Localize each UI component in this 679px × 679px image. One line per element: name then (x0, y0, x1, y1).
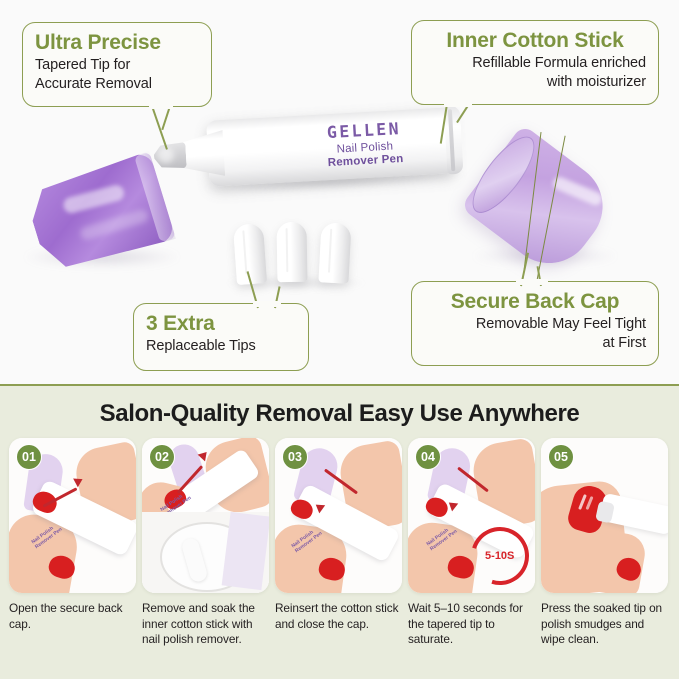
step-caption: Open the secure back cap. (9, 601, 136, 648)
step-number-badge: 02 (149, 444, 175, 470)
callout-tail-mask (516, 279, 548, 285)
how-to-use-panel: Salon-Quality Removal Easy Use Anywhere … (0, 386, 679, 679)
features-panel: GELLEN Nail Polish Remover Pen (0, 0, 679, 384)
steps-row: Nail PolishRemover Pen 01 Nail PolishRem… (9, 438, 670, 598)
callout-subtitle: Replaceable Tips (146, 337, 296, 356)
tip-body (318, 222, 351, 283)
tip-body (233, 223, 267, 285)
callout-title: 3 Extra (146, 311, 296, 337)
callout-tail-mask (149, 103, 173, 109)
step-number-badge: 01 (16, 444, 42, 470)
product-pen-image: GELLEN Nail Polish Remover Pen (148, 98, 512, 204)
replaceable-tip (233, 223, 267, 285)
callout-secure-back-cap: Secure Back Cap Removable May Feel Tight… (411, 281, 659, 366)
step-caption: Remove and soak the inner cotton stick w… (142, 601, 269, 648)
callout-tail-mask (444, 101, 472, 107)
step-number-badge: 03 (282, 444, 308, 470)
callout-ultra-precise: Ultra Precise Tapered Tip for Accurate R… (22, 22, 212, 107)
replaceable-tip (318, 222, 351, 283)
box-in-photo (222, 512, 269, 590)
callout-subtitle: Refillable Formula enriched with moistur… (424, 54, 646, 91)
step-card: Nail PolishRemover Pen 03 (275, 438, 402, 593)
pen-label: GELLEN Nail Polish Remover Pen (284, 118, 446, 173)
step-card: 05 (541, 438, 668, 593)
tip-body (276, 222, 307, 283)
step-caption: Wait 5–10 seconds for the tapered tip to… (408, 601, 535, 648)
step-card: Nail PolishRemover Pen 01 (9, 438, 136, 593)
step-card: Nail PolishRemover Pen 5-10S 04 (408, 438, 535, 593)
replaceable-tip (276, 222, 307, 283)
callout-title: Inner Cotton Stick (424, 28, 646, 54)
callout-three-extra-tips: 3 Extra Replaceable Tips (133, 303, 309, 371)
step-captions-row: Open the secure back cap. Remove and soa… (9, 601, 670, 648)
callout-inner-cotton-stick: Inner Cotton Stick Refillable Formula en… (411, 20, 659, 105)
step-number-badge: 05 (548, 444, 574, 470)
callout-subtitle: Removable May Feel Tight at First (424, 315, 646, 352)
callout-title: Secure Back Cap (424, 289, 646, 315)
how-to-use-title: Salon-Quality Removal Easy Use Anywhere (0, 400, 679, 428)
callout-tail-mask (253, 301, 281, 307)
step-number-badge: 04 (415, 444, 441, 470)
step-caption: Reinsert the cotton stick and close the … (275, 601, 402, 648)
step-caption: Press the soaked tip on polish smudges a… (541, 601, 668, 648)
product-infographic: GELLEN Nail Polish Remover Pen (0, 0, 679, 679)
timer-label: 5-10S (485, 550, 514, 562)
step-card: Nail PolishRemover Pen 02 (142, 438, 269, 593)
callout-subtitle: Tapered Tip for Accurate Removal (35, 56, 199, 93)
callout-title: Ultra Precise (35, 30, 199, 56)
